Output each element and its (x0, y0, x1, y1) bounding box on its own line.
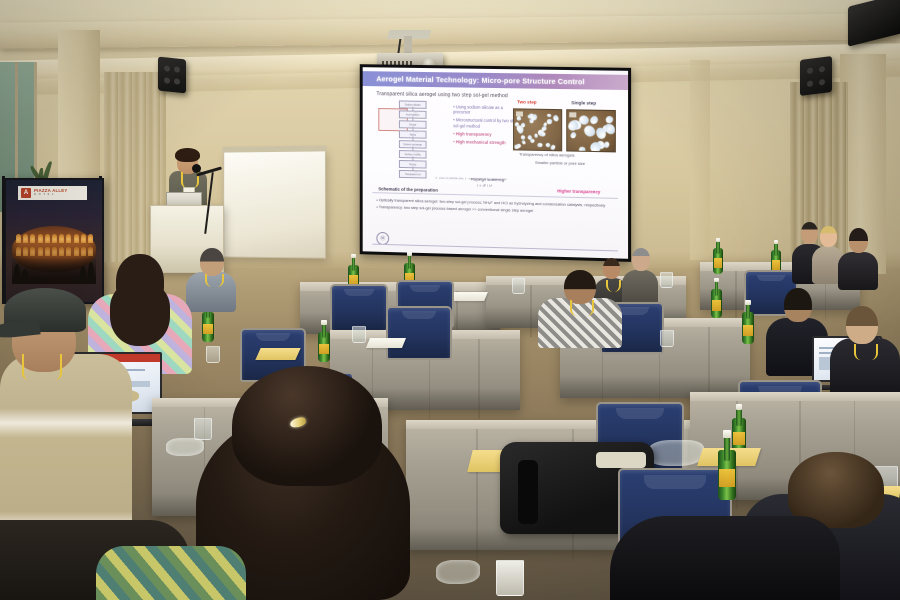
audience-member (186, 248, 236, 312)
colosseum-arch (30, 247, 35, 256)
drinking-cup (660, 330, 674, 347)
colosseum-arch (81, 234, 86, 243)
rayleigh-formula: I ∝ d⁶ / λ⁴ (477, 184, 492, 188)
slide-bullet: • High mechanical strength (453, 139, 519, 145)
colosseum-arch (59, 247, 64, 256)
banner-logo-icon: A (21, 188, 31, 198)
flowchart-side-note: —— (414, 171, 418, 173)
colosseum-arch (16, 234, 21, 243)
conference-room-photo: Aerogel Material Technology: Micro-pore … (0, 0, 900, 600)
colosseum-arch (59, 234, 64, 243)
drinking-cup (660, 272, 673, 288)
water-bottle (713, 238, 723, 274)
audience-member-checkered (538, 270, 622, 348)
flowchart-side-note: —— (414, 131, 418, 133)
banner-logo-subtext: H O T E L (34, 194, 68, 197)
water-bottle (318, 320, 330, 362)
banner-logo-text: PIAZZA ALLEY H O T E L (34, 189, 68, 197)
aerogel-particle (546, 119, 552, 125)
aerogel-particle (605, 115, 614, 124)
drinking-cup (512, 278, 525, 294)
aerogel-particle (579, 146, 587, 152)
colosseum-arch (66, 247, 71, 256)
water-bottle (718, 430, 736, 500)
audience-member-bottom (610, 500, 840, 600)
cypress-tree (80, 266, 86, 284)
banner-logo-strip: A PIAZZA ALLEY H O T E L (18, 186, 87, 200)
aerogel-particle (589, 114, 600, 125)
colosseum-arch (81, 247, 86, 256)
aerogel-particle (547, 114, 551, 118)
aerogel-particle (550, 144, 556, 151)
higher-transparency-label: Higher transparency (557, 188, 600, 194)
aerogel-particle (534, 133, 538, 137)
aerogel-particle (521, 140, 526, 145)
slide-bullet: • Microstructural control by two step so… (453, 118, 519, 129)
colosseum-arch (66, 234, 71, 243)
slide-title-bar: Aerogel Material Technology: Micro-pore … (363, 71, 628, 90)
aerogel-particle (606, 124, 612, 131)
preparation-flowchart: Sodium silicateAcid addition——Sol-gelAgi… (384, 100, 441, 183)
aerogel-particle (529, 138, 535, 144)
flipchart-rail (222, 145, 327, 152)
colosseum-arch (30, 234, 35, 243)
plastic-bag (436, 560, 480, 584)
projection-screen: Aerogel Material Technology: Micro-pore … (360, 64, 631, 262)
micrograph-caption: Transparency of silica aerogels (519, 152, 575, 158)
cypress-tree (14, 264, 20, 284)
audience-member (838, 228, 878, 290)
water-bottle (711, 278, 722, 318)
colosseum-arch (16, 247, 21, 256)
audience-member-patterned-bottom (96, 546, 246, 600)
colosseum-arch (23, 247, 28, 256)
flowchart-side-note: —— (414, 151, 418, 153)
aerogel-particle (518, 127, 524, 133)
colosseum-arch (45, 247, 50, 256)
audience-member (830, 306, 900, 402)
notepad (255, 348, 300, 360)
micrograph-caption-secondary: Smaller particle or pore size (535, 160, 585, 166)
cypress-tree (22, 269, 28, 284)
wall-speaker-left (158, 57, 186, 94)
plastic-bag (648, 440, 704, 466)
micrograph-label-single-step: Single step (571, 100, 596, 105)
wall-column-mid (690, 60, 710, 260)
slide-bullet: • High transparency (453, 131, 519, 137)
colosseum-arch (38, 247, 43, 256)
flowchart-side-note: —— (414, 112, 418, 114)
aerogel-particle (569, 131, 577, 139)
rayleigh-scattering-label: Rayleigh scattering (471, 176, 504, 182)
slide-subtitle: Transparent silica aerogel using two ste… (376, 91, 507, 99)
audience-chair[interactable] (330, 284, 384, 328)
micrograph-label-two-step: Two step (517, 99, 537, 104)
aerogel-particle (521, 135, 527, 140)
water-bottle (742, 300, 754, 344)
colosseum-arch (23, 234, 28, 243)
micrograph-two-step (513, 108, 562, 151)
flipchart-whiteboard (223, 149, 326, 258)
aerogel-particle (540, 132, 546, 137)
colosseum-artwork (12, 218, 96, 284)
aerogel-particle (537, 143, 542, 148)
microphone-icon (192, 164, 201, 173)
slide-bullet-list: • Using sodium silicate as a precursor• … (453, 104, 519, 149)
colosseum-arch (74, 247, 79, 256)
paper-sheet (366, 338, 406, 348)
aerogel-particle (552, 115, 559, 122)
paper-sheet (450, 292, 488, 301)
colosseum-arch (74, 234, 79, 243)
presentation-slide: Aerogel Material Technology: Micro-pore … (363, 67, 628, 259)
colosseum-arch (52, 234, 57, 243)
colosseum-arch (45, 234, 50, 243)
slide-title: Aerogel Material Technology: Micro-pore … (363, 74, 585, 86)
slide-bullet: • Using sodium silicate as a precursor (453, 104, 519, 115)
colosseum-arch (88, 234, 93, 243)
aerogel-particle (517, 116, 522, 121)
aerogel-particle (541, 126, 547, 132)
micrograph-panel: Two step Single step Transparency of sil… (513, 99, 622, 101)
colosseum-arch (52, 247, 57, 256)
slide-footer-rule (372, 244, 617, 251)
presenter-hair (175, 148, 200, 162)
drinking-cup (206, 346, 220, 363)
wall-speaker-right (800, 56, 832, 96)
drinking-cup (352, 326, 366, 343)
aerogel-particle (582, 124, 596, 138)
audience-chair[interactable] (386, 306, 448, 356)
slide-conclusion-list: • Optically transparent silica aerogel: … (376, 197, 615, 217)
colosseum-arch (38, 234, 43, 243)
micrograph-single-step (566, 109, 616, 152)
paper-cup (496, 560, 524, 596)
